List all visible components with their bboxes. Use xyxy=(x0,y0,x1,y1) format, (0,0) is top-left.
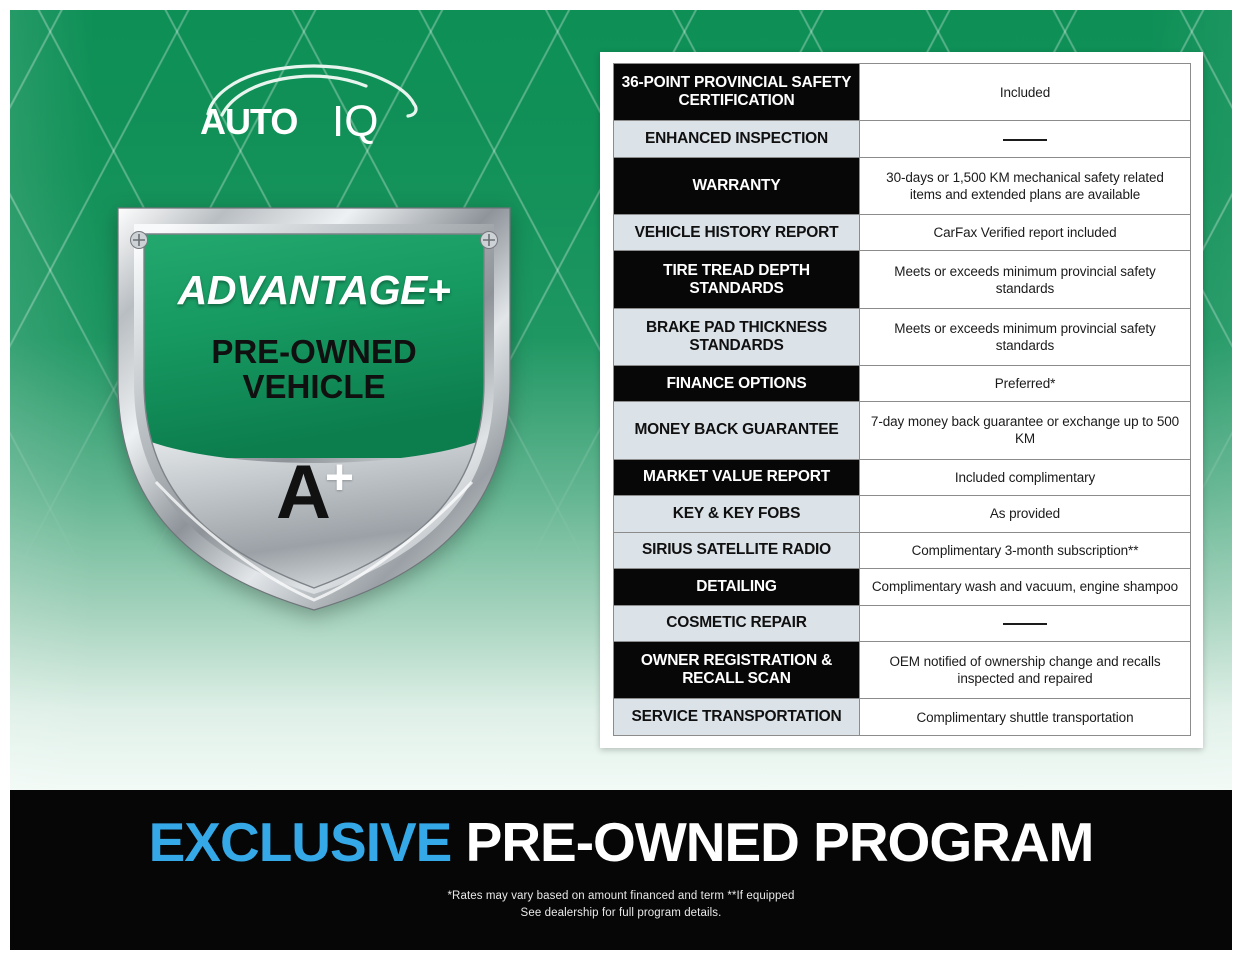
spec-value-cell: As provided xyxy=(860,496,1191,533)
spec-label-cell: MARKET VALUE REPORT xyxy=(614,459,860,496)
spec-table-body: 36-POINT PROVINCIAL SAFETY CERTIFICATION… xyxy=(614,64,1191,736)
spec-label-cell: ENHANCED INSPECTION xyxy=(614,121,860,158)
spec-value-cell: Complimentary shuttle transportation xyxy=(860,699,1191,736)
fine-print-line2: See dealership for full program details. xyxy=(521,907,722,919)
spec-label-cell: 36-POINT PROVINCIAL SAFETY CERTIFICATION xyxy=(614,64,860,121)
dash-mark-icon xyxy=(1003,139,1047,141)
spec-label-cell: WARRANTY xyxy=(614,157,860,214)
table-row: SERVICE TRANSPORTATIONComplimentary shut… xyxy=(614,699,1191,736)
spec-value-cell: Meets or exceeds minimum provincial safe… xyxy=(860,308,1191,365)
spec-value-cell: Meets or exceeds minimum provincial safe… xyxy=(860,251,1191,308)
spec-value-cell xyxy=(860,605,1191,642)
table-row: WARRANTY30-days or 1,500 KM mechanical s… xyxy=(614,157,1191,214)
spec-value-cell: Included xyxy=(860,64,1191,121)
logo-text-iq: IQ xyxy=(332,97,378,146)
table-row: VEHICLE HISTORY REPORTCarFax Verified re… xyxy=(614,214,1191,251)
banner-headline-plain: PRE-OWNED PROGRAM xyxy=(466,811,1094,873)
spec-value-cell: 7-day money back guarantee or exchange u… xyxy=(860,402,1191,459)
screw-right-icon xyxy=(481,232,498,249)
spec-value-cell: Complimentary wash and vacuum, engine sh… xyxy=(860,569,1191,606)
screw-left-icon xyxy=(131,232,148,249)
table-row: MARKET VALUE REPORTIncluded complimentar… xyxy=(614,459,1191,496)
table-row: DETAILINGComplimentary wash and vacuum, … xyxy=(614,569,1191,606)
spec-value-cell: Included complimentary xyxy=(860,459,1191,496)
spec-value-cell: OEM notified of ownership change and rec… xyxy=(860,642,1191,699)
spec-value-cell xyxy=(860,121,1191,158)
spec-value-cell: Preferred* xyxy=(860,365,1191,402)
table-row: MONEY BACK GUARANTEE7-day money back gua… xyxy=(614,402,1191,459)
table-row: BRAKE PAD THICKNESS STANDARDSMeets or ex… xyxy=(614,308,1191,365)
fine-print-line1: *Rates may vary based on amount financed… xyxy=(447,890,794,902)
program-spec-table: 36-POINT PROVINCIAL SAFETY CERTIFICATION… xyxy=(613,63,1191,736)
table-row: OWNER REGISTRATION & RECALL SCANOEM noti… xyxy=(614,642,1191,699)
program-spec-card: 36-POINT PROVINCIAL SAFETY CERTIFICATION… xyxy=(600,52,1203,748)
table-row: 36-POINT PROVINCIAL SAFETY CERTIFICATION… xyxy=(614,64,1191,121)
table-row: KEY & KEY FOBSAs provided xyxy=(614,496,1191,533)
autoiq-logo: AUTO IQ xyxy=(186,52,426,148)
banner-fine-print: *Rates may vary based on amount financed… xyxy=(10,888,1232,922)
table-row: ENHANCED INSPECTION xyxy=(614,121,1191,158)
spec-label-cell: FINANCE OPTIONS xyxy=(614,365,860,402)
advantage-shield-badge: ADVANTAGE+ PRE-OWNED VEHICLE A+ xyxy=(96,186,532,614)
spec-label-cell: COSMETIC REPAIR xyxy=(614,605,860,642)
spec-label-cell: TIRE TREAD DEPTH STANDARDS xyxy=(614,251,860,308)
table-row: SIRIUS SATELLITE RADIOComplimentary 3-mo… xyxy=(614,532,1191,569)
spec-label-cell: MONEY BACK GUARANTEE xyxy=(614,402,860,459)
spec-label-cell: VEHICLE HISTORY REPORT xyxy=(614,214,860,251)
spec-value-cell: 30-days or 1,500 KM mechanical safety re… xyxy=(860,157,1191,214)
spec-label-cell: SERVICE TRANSPORTATION xyxy=(614,699,860,736)
shield-face xyxy=(136,226,492,606)
table-row: COSMETIC REPAIR xyxy=(614,605,1191,642)
spec-label-cell: DETAILING xyxy=(614,569,860,606)
spec-label-cell: OWNER REGISTRATION & RECALL SCAN xyxy=(614,642,860,699)
dash-mark-icon xyxy=(1003,623,1047,625)
banner-headline-accent: EXCLUSIVE xyxy=(149,811,452,873)
spec-label-cell: KEY & KEY FOBS xyxy=(614,496,860,533)
spec-value-cell: CarFax Verified report included xyxy=(860,214,1191,251)
spec-label-cell: SIRIUS SATELLITE RADIO xyxy=(614,532,860,569)
banner-headline: EXCLUSIVE PRE-OWNED PROGRAM xyxy=(10,810,1232,874)
table-row: FINANCE OPTIONSPreferred* xyxy=(614,365,1191,402)
bottom-banner: EXCLUSIVE PRE-OWNED PROGRAM *Rates may v… xyxy=(10,790,1232,950)
spec-label-cell: BRAKE PAD THICKNESS STANDARDS xyxy=(614,308,860,365)
logo-text-auto: AUTO xyxy=(200,101,297,142)
spec-value-cell: Complimentary 3-month subscription** xyxy=(860,532,1191,569)
table-row: TIRE TREAD DEPTH STANDARDSMeets or excee… xyxy=(614,251,1191,308)
advantage-plus-poster: AUTO IQ xyxy=(0,0,1242,960)
